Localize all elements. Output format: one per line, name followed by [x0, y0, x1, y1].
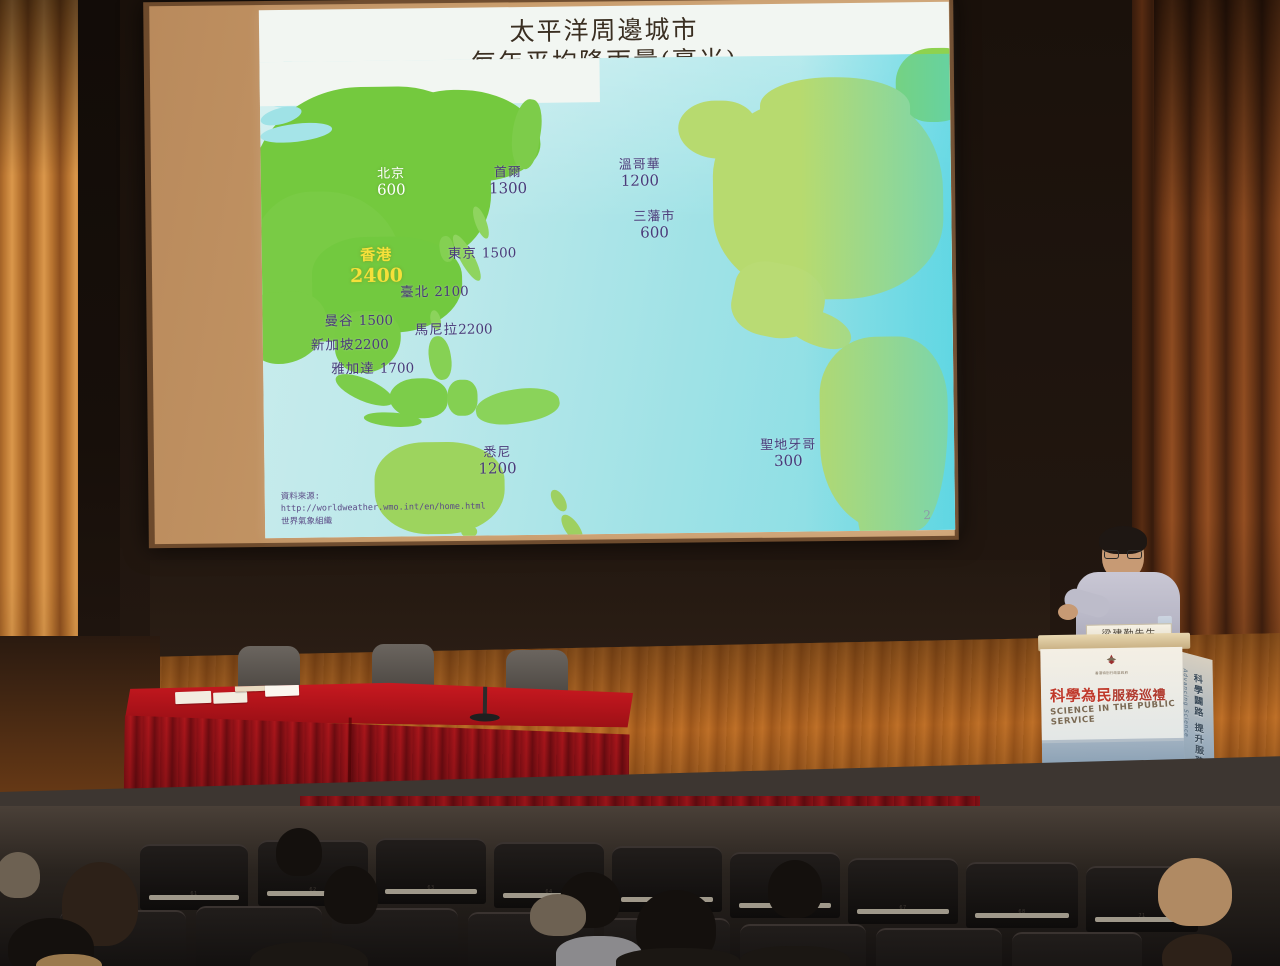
audience-shoulders: [740, 946, 850, 966]
seat-number: 63: [427, 885, 434, 891]
map-label-taipei: 臺北 2100: [400, 282, 469, 302]
ocean-gradient-right: [799, 54, 955, 532]
paper-sheet: [213, 691, 247, 703]
microphone-stem: [483, 679, 488, 715]
seat-number: 71: [1138, 913, 1145, 919]
audience-head: [1162, 934, 1232, 966]
paper-sheet: [175, 691, 211, 704]
speaker-hand: [1058, 604, 1078, 620]
slide-page-number: 2: [923, 508, 931, 522]
banner-logo-caption: 香港特別行政區政府: [1095, 670, 1128, 676]
map-label-vancouver: 溫哥華 1200: [619, 157, 661, 191]
audience-area: 61 62 63 64 65 66 67 68 71 72 73 74: [0, 806, 1280, 966]
map-label-seoul: 首爾 1300: [489, 165, 528, 198]
map-label-tokyo: 東京 1500: [448, 243, 517, 263]
microphone-head-icon: [478, 675, 492, 684]
map-label-bangkok: 曼谷 1500: [324, 311, 393, 331]
map-label-beijing: 北京 600: [377, 166, 406, 199]
audience-head: [530, 894, 586, 936]
auditorium-seat: 63: [376, 838, 486, 904]
eyeglasses-icon: [1104, 550, 1142, 559]
map-label-san-francisco: 三藩市 600: [633, 209, 675, 243]
government-logo-icon: [1103, 653, 1119, 669]
map-label-santiago: 聖地牙哥 300: [760, 437, 816, 471]
audience-shoulders: [616, 948, 740, 966]
podium-side-text-cn: 科學闢路 提升服務: [1191, 672, 1206, 769]
source-url: http://worldweather.wmo.int/en/home.html: [281, 501, 486, 516]
landmass-new-zealand-south: [557, 511, 587, 538]
map-label-sydney: 悉尼 1200: [478, 445, 517, 478]
auditorium-seat: 68: [966, 862, 1078, 928]
map-label-singapore: 新加坡2200: [311, 335, 389, 355]
audience-head: [324, 866, 378, 924]
map-label-manila: 馬尼拉2200: [415, 319, 493, 339]
audience-head: [276, 828, 322, 876]
auditorium-seat: [1012, 932, 1142, 966]
map-label-hong-kong: 香港 2400: [350, 246, 403, 287]
landmass-new-zealand-north: [548, 487, 571, 514]
seat-number: 61: [190, 891, 197, 897]
lecture-hall-photo: 太平洋周邊城市 每年平均降雨量(毫米): [0, 0, 1280, 966]
paper-sheet: [265, 682, 299, 696]
slide-source-note: 資料來源: http://worldweather.wmo.int/en/hom…: [281, 489, 486, 528]
seat-number: 68: [1018, 909, 1025, 915]
auditorium-seat: 61: [140, 844, 248, 910]
seat-number: 62: [309, 887, 316, 893]
landmass-sulawesi: [447, 380, 477, 416]
seat-number: 67: [899, 905, 906, 911]
map-label-jakarta: 雅加達 1700: [331, 358, 414, 378]
audience-head: [768, 860, 822, 918]
microphone-base: [470, 713, 500, 721]
table-papers: [175, 680, 294, 707]
auditorium-seat: 67: [848, 858, 958, 924]
audience-head: [0, 852, 40, 898]
landmass-new-guinea: [473, 382, 562, 430]
projected-slide: 太平洋周邊城市 每年平均降雨量(毫米): [259, 2, 955, 538]
world-map: 北京 600 首爾 1300 溫哥華 1200 三藩市 600 東京 1500: [259, 54, 955, 538]
landmass-philippines: [426, 335, 454, 382]
source-org: 世界氣象組織: [281, 513, 486, 528]
audience-head: [1158, 858, 1232, 926]
auditorium-seat: [876, 928, 1002, 966]
